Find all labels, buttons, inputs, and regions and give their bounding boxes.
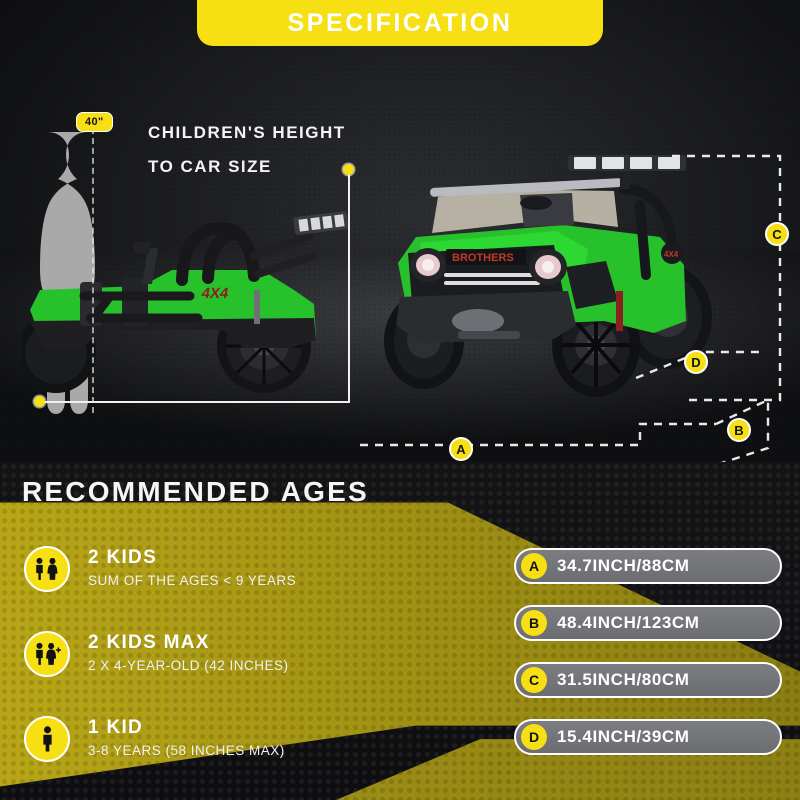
dimension-pill-list: A 34.7INCH/88CM B 48.4INCH/123CM C 31.5I… bbox=[514, 548, 782, 776]
height-badge: 40" bbox=[76, 112, 113, 132]
callout-path-a bbox=[360, 424, 716, 445]
headline-line-2: TO CAR SIZE bbox=[148, 150, 346, 184]
dimension-pill: C 31.5INCH/80CM bbox=[514, 662, 782, 698]
specification-banner: SPECIFICATION bbox=[197, 0, 603, 46]
dimension-badge-b: B bbox=[521, 610, 547, 636]
age-list: 2 KIDS SUM OF THE AGES < 9 YEARS bbox=[24, 542, 444, 797]
spec-section: 40" CHILDREN'S HEIGHT TO CAR SIZE bbox=[0, 0, 800, 462]
dimension-value-c: 31.5INCH/80CM bbox=[557, 670, 690, 690]
two-kids-icon bbox=[24, 546, 70, 592]
marker-c: C bbox=[765, 222, 789, 246]
one-kid-icon bbox=[24, 716, 70, 762]
age-sub-label: SUM OF THE AGES < 9 YEARS bbox=[88, 571, 296, 591]
page-title: SPECIFICATION bbox=[287, 9, 512, 38]
recommended-ages-title: RECOMMENDED AGES bbox=[22, 476, 369, 508]
age-text: 2 KIDS MAX 2 X 4-YEAR-OLD (42 INCHES) bbox=[88, 632, 289, 676]
age-row: 2 KIDS SUM OF THE AGES < 9 YEARS bbox=[24, 542, 444, 596]
specification-infographic: 40" CHILDREN'S HEIGHT TO CAR SIZE bbox=[0, 0, 800, 800]
age-main-label: 2 KIDS MAX bbox=[88, 632, 289, 654]
dimension-pill: D 15.4INCH/39CM bbox=[514, 719, 782, 755]
headline-line-1: CHILDREN'S HEIGHT bbox=[148, 116, 346, 150]
age-row: 1 KID 3-8 YEARS (58 INCHES MAX) bbox=[24, 712, 444, 766]
age-sub-label: 3-8 YEARS (58 INCHES MAX) bbox=[88, 741, 285, 761]
age-main-label: 2 KIDS bbox=[88, 547, 296, 569]
marker-b: B bbox=[727, 418, 751, 442]
two-kids-plus-icon bbox=[24, 631, 70, 677]
dimension-badge-d: D bbox=[521, 724, 547, 750]
age-sub-label: 2 X 4-YEAR-OLD (42 INCHES) bbox=[88, 656, 289, 676]
age-main-label: 1 KID bbox=[88, 717, 285, 739]
marker-a: A bbox=[449, 437, 473, 461]
dimension-badge-a: A bbox=[521, 553, 547, 579]
dimension-badge-c: C bbox=[521, 667, 547, 693]
dimension-pill: B 48.4INCH/123CM bbox=[514, 605, 782, 641]
dimension-pill: A 34.7INCH/88CM bbox=[514, 548, 782, 584]
dimension-value-d: 15.4INCH/39CM bbox=[557, 727, 690, 747]
dimension-value-b: 48.4INCH/123CM bbox=[557, 613, 700, 633]
headline: CHILDREN'S HEIGHT TO CAR SIZE bbox=[148, 116, 346, 184]
age-text: 1 KID 3-8 YEARS (58 INCHES MAX) bbox=[88, 717, 285, 761]
dimension-callouts bbox=[0, 0, 800, 462]
dimension-value-a: 34.7INCH/88CM bbox=[557, 556, 690, 576]
age-row: 2 KIDS MAX 2 X 4-YEAR-OLD (42 INCHES) bbox=[24, 627, 444, 681]
age-text: 2 KIDS SUM OF THE AGES < 9 YEARS bbox=[88, 547, 296, 591]
marker-d: D bbox=[684, 350, 708, 374]
recommended-ages-section: RECOMMENDED AGES 2 KIDS bbox=[0, 462, 800, 800]
